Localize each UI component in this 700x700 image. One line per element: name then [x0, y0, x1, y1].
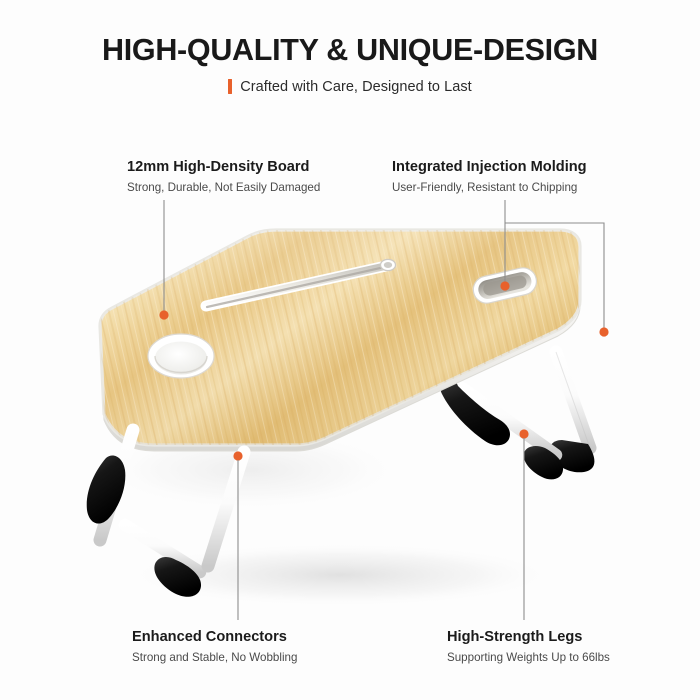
leg-joint-left-curve — [87, 455, 126, 523]
callout-subtitle: Strong, Durable, Not Easily Damaged — [127, 181, 320, 195]
marker-dot-leg — [519, 429, 528, 438]
marker-dot-connector — [233, 451, 242, 460]
callout-bottom-left: Enhanced Connectors Strong and Stable, N… — [132, 628, 297, 666]
callout-subtitle: Strong and Stable, No Wobbling — [132, 651, 297, 665]
marker-dot-board-edge — [599, 327, 608, 336]
infographic-canvas: HIGH-QUALITY & UNIQUE-DESIGN Crafted wit… — [0, 0, 700, 700]
marker-dot-handle-slot — [500, 281, 509, 290]
callout-title: Integrated Injection Molding — [392, 158, 587, 176]
product-illustration — [0, 0, 700, 700]
leg-tube-right-rear-edge — [556, 352, 590, 448]
callout-title: High-Strength Legs — [447, 628, 610, 646]
callout-bottom-right: High-Strength Legs Supporting Weights Up… — [447, 628, 610, 666]
callout-top-left: 12mm High-Density Board Strong, Durable,… — [127, 158, 320, 196]
callout-subtitle: Supporting Weights Up to 66lbs — [447, 651, 610, 665]
callout-title: 12mm High-Density Board — [127, 158, 320, 176]
cup-holder — [148, 334, 214, 378]
callout-subtitle: User-Friendly, Resistant to Chipping — [392, 181, 587, 195]
callout-title: Enhanced Connectors — [132, 628, 297, 646]
callout-top-right: Integrated Injection Molding User-Friend… — [392, 158, 587, 196]
marker-dot-board — [159, 310, 168, 319]
